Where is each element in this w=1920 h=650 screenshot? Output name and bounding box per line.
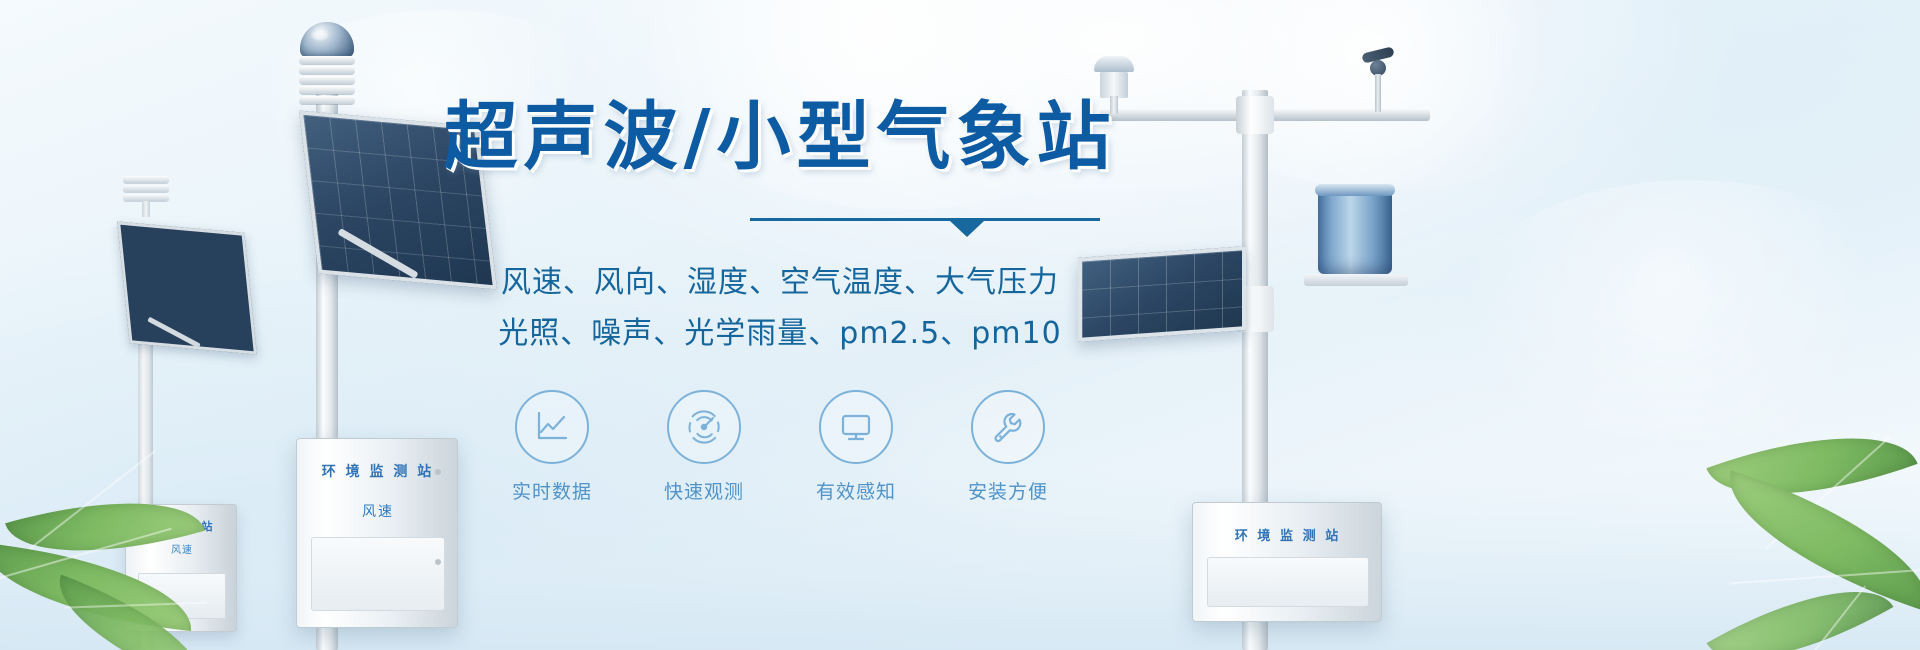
rain-gauge-sensor-icon	[1318, 188, 1392, 288]
cabinet-label: 环 境 监 测 站	[1203, 525, 1373, 544]
feature-item-effective-sensing[interactable]: 有效感知	[801, 390, 911, 504]
feature-item-easy-install[interactable]: 安装方便	[953, 390, 1063, 504]
sky-dome-sensor-icon	[300, 22, 354, 58]
leaf-decoration	[1708, 470, 1920, 611]
divider-rule	[750, 218, 1100, 221]
control-cabinet: 环 境 监 测 站 风速	[296, 438, 458, 628]
wind-vane-sensor-icon	[1358, 48, 1398, 112]
feature-item-fast-observation[interactable]: 快速观测	[649, 390, 759, 504]
cabinet-label: 环 境 监 测 站	[307, 461, 449, 481]
solar-panel	[117, 221, 257, 354]
control-cabinet: 环 境 监 测 站	[1192, 502, 1382, 622]
feature-label: 有效感知	[801, 477, 911, 504]
feature-item-realtime-data[interactable]: 实时数据	[497, 390, 607, 504]
weather-station-ultrasonic: 环 境 监 测 站	[1070, 0, 1450, 650]
feature-label: 安装方便	[953, 477, 1063, 504]
cabinet-door	[311, 537, 445, 611]
feature-label: 实时数据	[497, 477, 607, 504]
cloud-decoration	[1460, 180, 1920, 440]
chevron-down-icon	[950, 221, 984, 237]
page-title: 超声波/小型气象站	[440, 96, 1120, 179]
cabinet-door	[1207, 557, 1369, 607]
title-divider	[750, 215, 1100, 237]
radiation-shield-sensor-icon	[299, 56, 355, 108]
brand-logo-label: 风速	[307, 501, 449, 521]
line-chart-icon	[515, 390, 589, 464]
subtitle-line-1: 风速、风向、湿度、空气温度、大气压力	[440, 259, 1120, 306]
feature-label: 快速观测	[649, 477, 759, 504]
radiation-shield-sensor-icon	[123, 176, 169, 210]
subtitle-line-2: 光照、噪声、光学雨量、pm2.5、pm10	[440, 310, 1120, 357]
product-banner: 环境监测站 风速 环 境 监 测 站 风速	[0, 0, 1920, 650]
banner-text-block: 超声波/小型气象站 风速、风向、湿度、空气温度、大气压力 光照、噪声、光学雨量、…	[440, 96, 1120, 504]
radar-sensor-icon	[667, 390, 741, 464]
feature-list: 实时数据 快速观测	[440, 390, 1120, 504]
mast-collar	[1236, 96, 1274, 134]
monitor-icon	[819, 390, 893, 464]
wrench-icon	[971, 390, 1045, 464]
